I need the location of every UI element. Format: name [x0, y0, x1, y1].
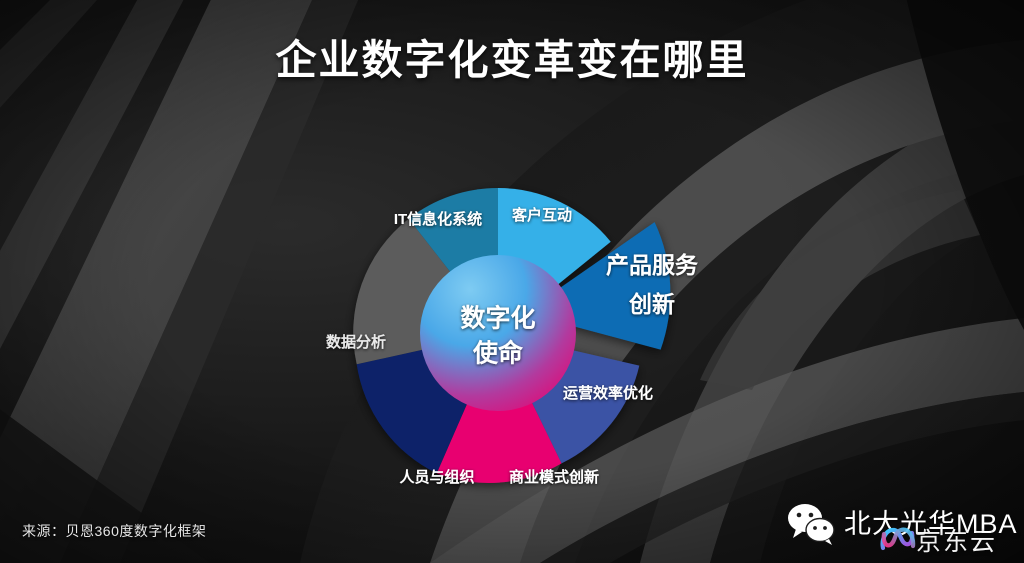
- donut-chart: IT信息化系统 客户互动 产品服务 创新 运营效率优化 商业模式创新 人员与组织…: [318, 148, 748, 518]
- segment-label-people-organization: 人员与组织: [399, 468, 474, 486]
- watermark: 北大光华MBA 京东云: [786, 498, 1014, 560]
- donut-center-label-line1: 数字化: [460, 304, 535, 333]
- jd-cloud-label: 京东云: [916, 522, 997, 558]
- jd-cloud-logo: 京东云: [880, 522, 1020, 562]
- donut-chart-svg: IT信息化系统 客户互动 产品服务 创新 运营效率优化 商业模式创新 人员与组织…: [318, 148, 748, 518]
- donut-center-label-line2: 使命: [472, 339, 524, 368]
- page-title: 企业数字化变革变在哪里: [0, 26, 1024, 86]
- jd-cloud-mark-icon: [880, 524, 916, 554]
- slide-canvas: 企业数字化变革变在哪里: [0, 0, 1024, 563]
- donut-center-circle: [420, 255, 576, 411]
- segment-label-product-service-line1: 产品服务: [606, 252, 699, 278]
- source-note: 来源：贝恩360度数字化框架: [22, 521, 206, 541]
- wechat-icon: [786, 502, 838, 546]
- segment-label-business-model: 商业模式创新: [509, 468, 599, 486]
- segment-label-operation-efficiency: 运营效率优化: [563, 384, 653, 402]
- segment-label-product-service-line2: 创新: [628, 291, 675, 317]
- segment-label-customer-interaction: 客户互动: [511, 206, 572, 224]
- segment-label-it-system: IT信息化系统: [394, 210, 482, 228]
- segment-label-data-analytics: 数据分析: [326, 333, 386, 351]
